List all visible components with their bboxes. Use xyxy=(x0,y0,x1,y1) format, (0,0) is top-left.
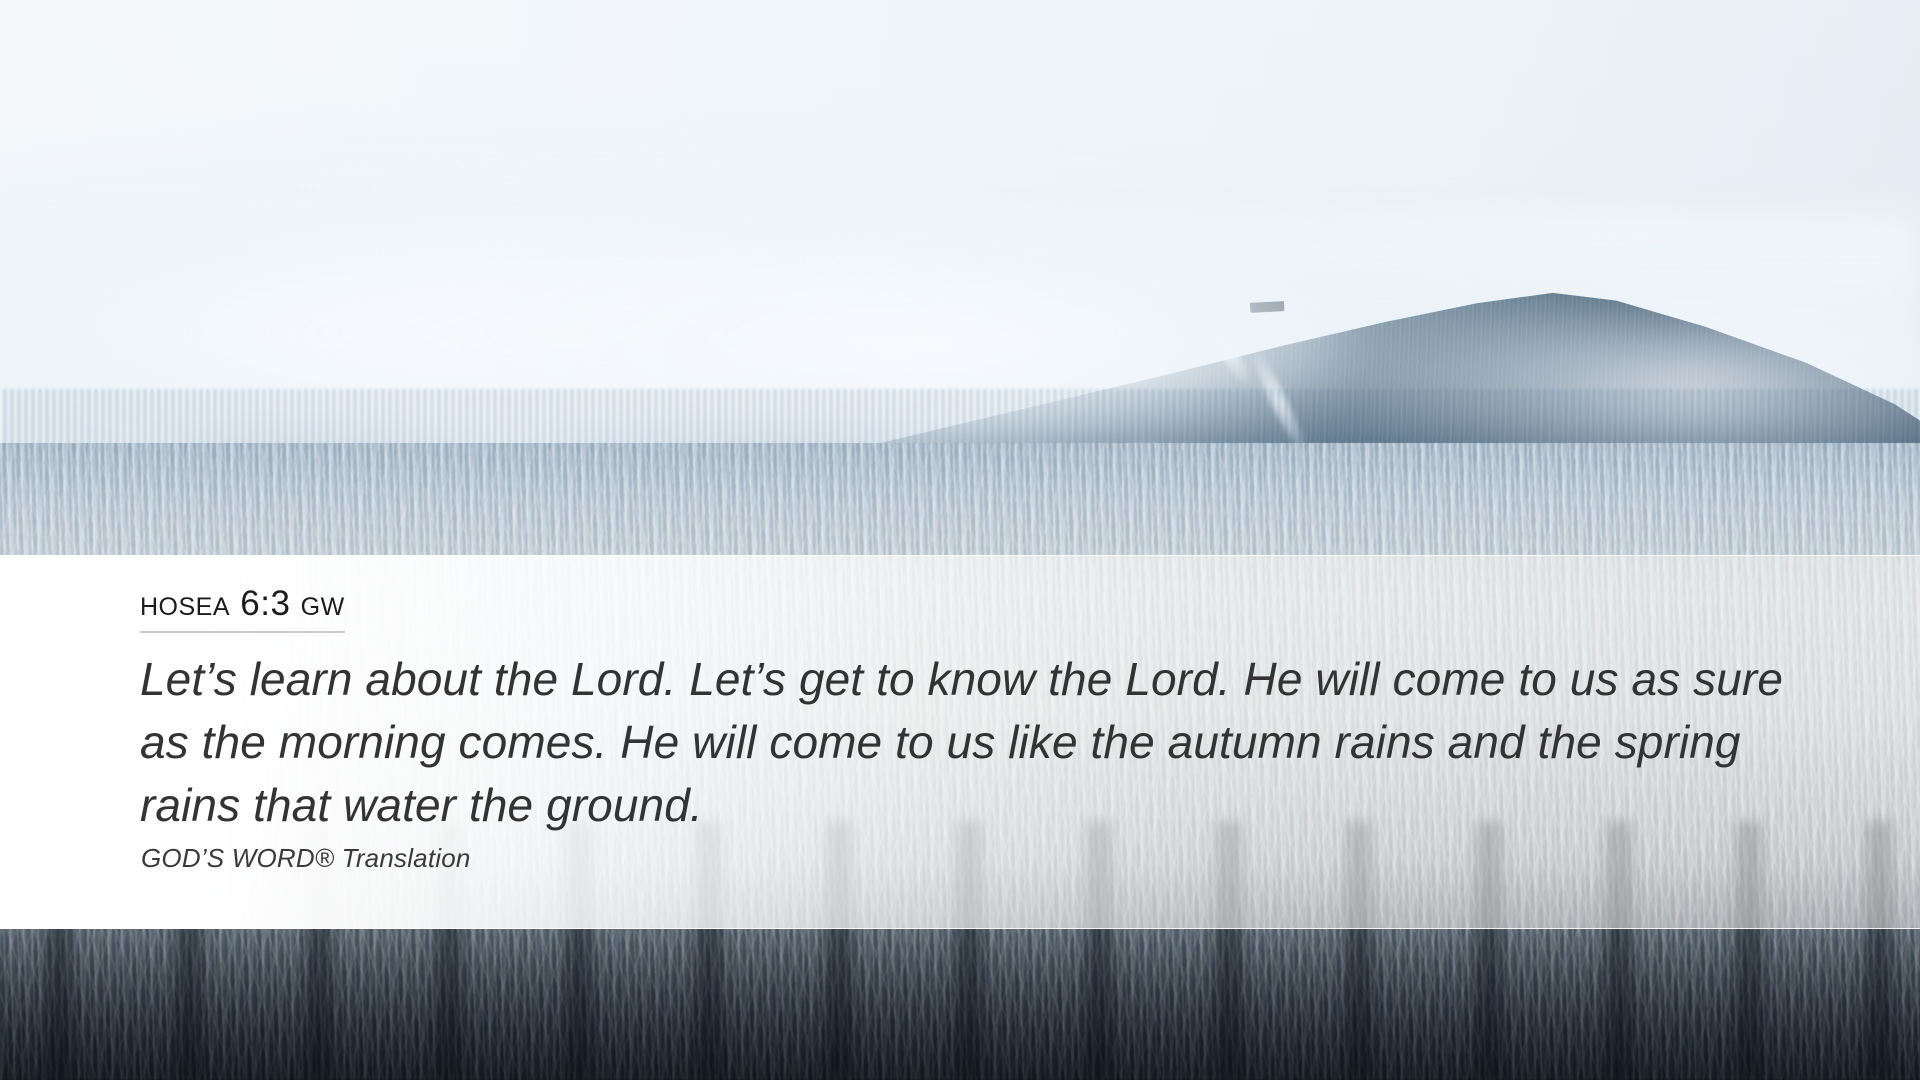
scripture-reference: Hosea 6:3 GW xyxy=(140,585,345,633)
verse-overlay-panel: Hosea 6:3 GW Let’s learn about the Lord.… xyxy=(0,555,1920,929)
verse-content: Hosea 6:3 GW Let’s learn about the Lord.… xyxy=(140,556,1820,928)
wallpaper-canvas: Hosea 6:3 GW Let’s learn about the Lord.… xyxy=(0,0,1920,1080)
verse-text: Let’s learn about the Lord. Let’s get to… xyxy=(140,648,1800,837)
translation-attribution: GOD’S WORD® Translation xyxy=(141,843,471,874)
